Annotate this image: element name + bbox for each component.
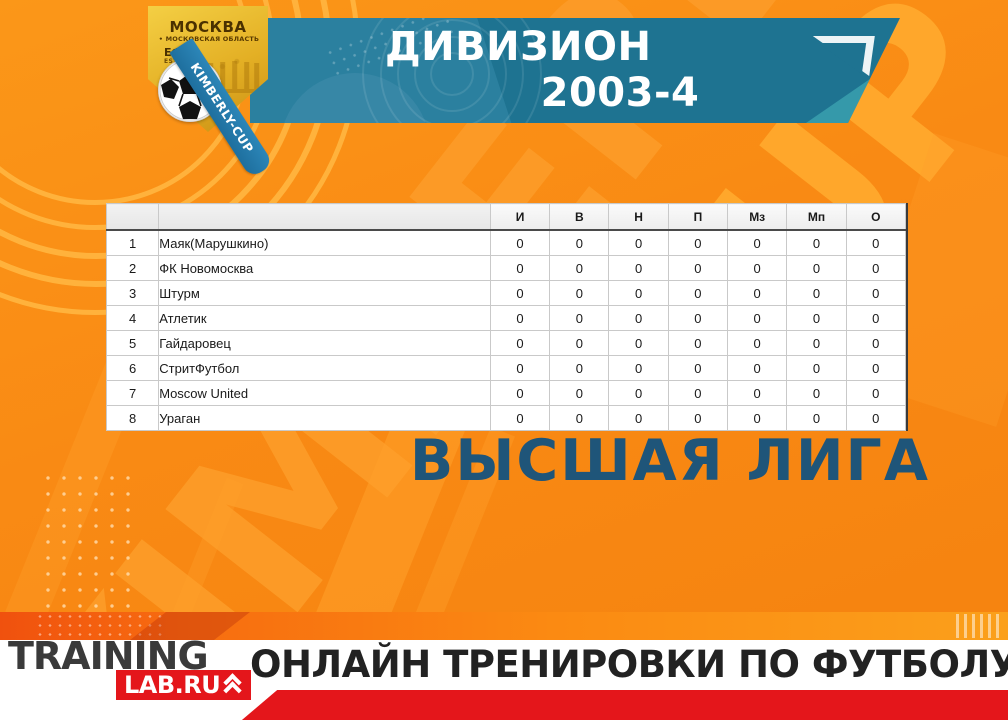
- cell-rank: 6: [107, 356, 159, 381]
- tournament-logo: МОСКВА • МОСКОВСКАЯ ОБЛАСТЬ ЕФЛ EST.2014…: [112, 2, 298, 142]
- traininglab-wordmark-bottom: LAB.RU: [124, 673, 220, 697]
- cell-wins: 0: [550, 406, 609, 431]
- cell-draws: 0: [609, 256, 668, 281]
- table-row: 8 Ураган 0 0 0 0 0 0 0: [107, 406, 906, 431]
- cell-games: 0: [490, 256, 549, 281]
- cell-team: Штурм: [159, 281, 491, 306]
- slide-canvas: KIMBERLY CUP ДИВИЗИОН 2003-4 МОСКВА • МО…: [0, 0, 1008, 720]
- cell-losses: 0: [668, 356, 727, 381]
- cell-rank: 2: [107, 256, 159, 281]
- cell-goals-against: 0: [787, 406, 846, 431]
- cell-goals-against: 0: [787, 331, 846, 356]
- double-chevron-up-icon: [225, 674, 245, 696]
- cell-games: 0: [490, 381, 549, 406]
- column-header-team: [159, 204, 491, 231]
- standings-table-container: И В Н П Мз Мп О 1 Маяк(Марушкино) 0 0 0 …: [106, 203, 906, 431]
- cell-draws: 0: [609, 381, 668, 406]
- cell-points: 0: [846, 230, 905, 256]
- cell-losses: 0: [668, 406, 727, 431]
- cell-games: 0: [490, 406, 549, 431]
- column-header-draws: Н: [609, 204, 668, 231]
- cell-wins: 0: [550, 281, 609, 306]
- table-row: 3 Штурм 0 0 0 0 0 0 0: [107, 281, 906, 306]
- cell-goals-against: 0: [787, 230, 846, 256]
- footer-tagline: ОНЛАЙН ТРЕНИРОВКИ ПО ФУТБОЛУ: [250, 643, 1002, 686]
- cell-team: Moscow United: [159, 381, 491, 406]
- cell-wins: 0: [550, 381, 609, 406]
- cell-rank: 8: [107, 406, 159, 431]
- table-row: 5 Гайдаровец 0 0 0 0 0 0 0: [107, 331, 906, 356]
- cell-games: 0: [490, 230, 549, 256]
- cell-team: Атлетик: [159, 306, 491, 331]
- logo-region-label: • МОСКОВСКАЯ ОБЛАСТЬ: [154, 35, 264, 43]
- cell-rank: 3: [107, 281, 159, 306]
- traininglab-wordmark-badge: LAB.RU: [116, 670, 251, 700]
- cell-games: 0: [490, 306, 549, 331]
- cell-rank: 5: [107, 331, 159, 356]
- cell-points: 0: [846, 281, 905, 306]
- cell-team: ФК Новомосква: [159, 256, 491, 281]
- logo-city-label: МОСКВА: [156, 18, 260, 36]
- table-row: 7 Moscow United 0 0 0 0 0 0 0: [107, 381, 906, 406]
- cell-goals-for: 0: [728, 281, 787, 306]
- cell-goals-against: 0: [787, 356, 846, 381]
- cell-goals-for: 0: [728, 230, 787, 256]
- cell-losses: 0: [668, 230, 727, 256]
- cell-losses: 0: [668, 331, 727, 356]
- cell-goals-against: 0: [787, 306, 846, 331]
- cell-games: 0: [490, 356, 549, 381]
- table-row: 4 Атлетик 0 0 0 0 0 0 0: [107, 306, 906, 331]
- table-header-row: И В Н П Мз Мп О: [107, 204, 906, 231]
- column-header-rank: [107, 204, 159, 231]
- cell-wins: 0: [550, 306, 609, 331]
- cell-goals-against: 0: [787, 281, 846, 306]
- cell-losses: 0: [668, 381, 727, 406]
- cell-losses: 0: [668, 281, 727, 306]
- cell-rank: 7: [107, 381, 159, 406]
- cell-games: 0: [490, 281, 549, 306]
- cell-rank: 4: [107, 306, 159, 331]
- cell-wins: 0: [550, 230, 609, 256]
- cell-goals-for: 0: [728, 406, 787, 431]
- table-row: 1 Маяк(Марушкино) 0 0 0 0 0 0 0: [107, 230, 906, 256]
- cell-draws: 0: [609, 281, 668, 306]
- cell-team: Ураган: [159, 406, 491, 431]
- cell-goals-for: 0: [728, 331, 787, 356]
- cell-losses: 0: [668, 306, 727, 331]
- standings-table-body: 1 Маяк(Марушкино) 0 0 0 0 0 0 0 2 ФК Нов…: [107, 230, 906, 431]
- cell-wins: 0: [550, 256, 609, 281]
- table-right-border: [906, 203, 908, 431]
- cell-goals-for: 0: [728, 381, 787, 406]
- traininglab-logo[interactable]: TRAINING LAB.RU: [6, 634, 256, 696]
- cell-points: 0: [846, 256, 905, 281]
- cell-points: 0: [846, 331, 905, 356]
- column-header-goals-for: Мз: [728, 204, 787, 231]
- cell-goals-for: 0: [728, 356, 787, 381]
- cell-team: Маяк(Марушкино): [159, 230, 491, 256]
- cell-team: Гайдаровец: [159, 331, 491, 356]
- column-header-points: О: [846, 204, 905, 231]
- cell-points: 0: [846, 306, 905, 331]
- cell-draws: 0: [609, 356, 668, 381]
- table-row: 2 ФК Новомосква 0 0 0 0 0 0 0: [107, 256, 906, 281]
- cell-points: 0: [846, 356, 905, 381]
- cell-wins: 0: [550, 356, 609, 381]
- cell-draws: 0: [609, 331, 668, 356]
- cell-points: 0: [846, 406, 905, 431]
- footer-bar-pattern: [956, 614, 1002, 638]
- column-header-wins: В: [550, 204, 609, 231]
- cell-wins: 0: [550, 331, 609, 356]
- cell-draws: 0: [609, 230, 668, 256]
- cell-draws: 0: [609, 306, 668, 331]
- cell-draws: 0: [609, 406, 668, 431]
- background-dot-grid: [40, 470, 136, 630]
- table-row: 6 СтритФутбол 0 0 0 0 0 0 0: [107, 356, 906, 381]
- cell-goals-for: 0: [728, 306, 787, 331]
- column-header-losses: П: [668, 204, 727, 231]
- column-header-goals-against: Мп: [787, 204, 846, 231]
- header-banner: ДИВИЗИОН 2003-4: [250, 18, 900, 123]
- page-title: ДИВИЗИОН: [385, 26, 855, 68]
- cell-goals-for: 0: [728, 256, 787, 281]
- column-header-games: И: [490, 204, 549, 231]
- cell-losses: 0: [668, 256, 727, 281]
- page-subtitle: 2003-4: [385, 70, 855, 116]
- cell-goals-against: 0: [787, 381, 846, 406]
- standings-table-head: И В Н П Мз Мп О: [107, 204, 906, 231]
- cell-games: 0: [490, 331, 549, 356]
- standings-table: И В Н П Мз Мп О 1 Маяк(Марушкино) 0 0 0 …: [106, 203, 906, 431]
- league-label: ВЫСШАЯ ЛИГА: [0, 428, 930, 494]
- cell-rank: 1: [107, 230, 159, 256]
- cell-points: 0: [846, 381, 905, 406]
- cell-team: СтритФутбол: [159, 356, 491, 381]
- cell-goals-against: 0: [787, 256, 846, 281]
